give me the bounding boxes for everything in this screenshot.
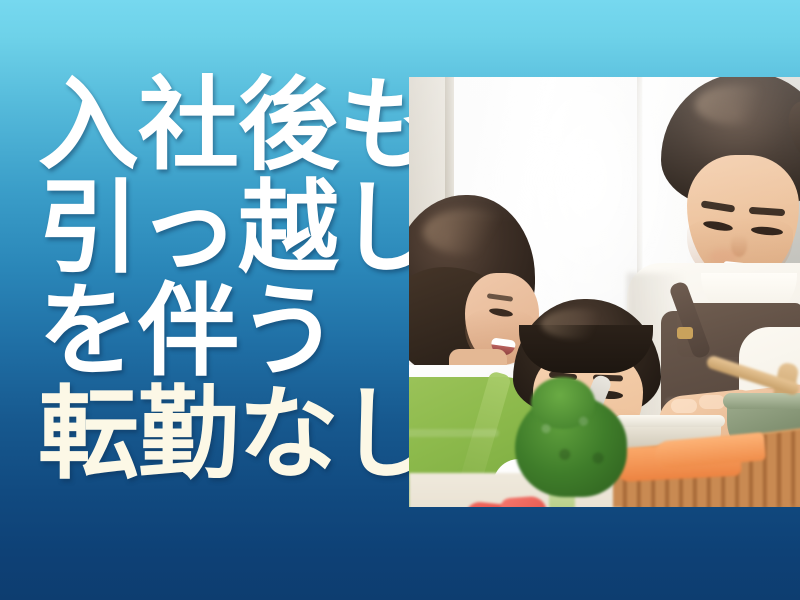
headline-line-1: 入社後も (38, 74, 398, 177)
headline-line-2: 引っ越し (38, 177, 398, 280)
recruitment-banner: 入社後も 引っ越し を伴う 転勤なし (0, 0, 800, 600)
headline-block: 入社後も 引っ越し を伴う 転勤なし (38, 74, 398, 486)
headline-line-4: 転勤なし (38, 383, 398, 486)
photo-light-wash (409, 77, 800, 507)
family-cooking-photo (409, 77, 800, 507)
headline-line-3: を伴う (38, 280, 398, 383)
